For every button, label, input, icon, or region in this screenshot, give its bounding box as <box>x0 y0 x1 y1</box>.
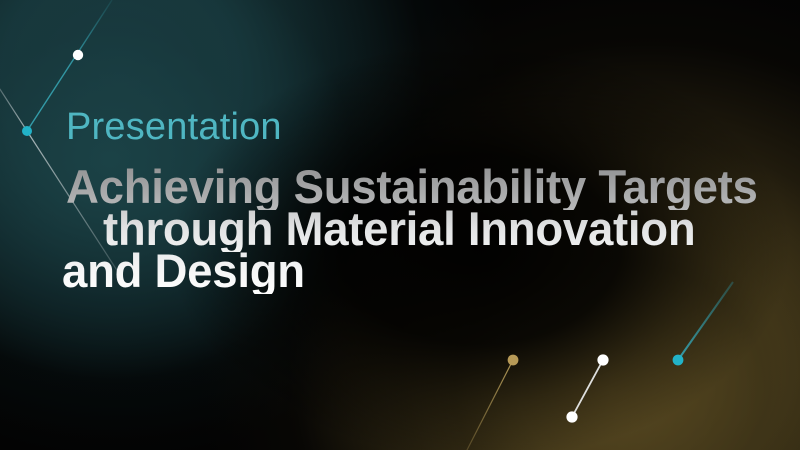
edge-white-diagonal-left <box>0 80 27 131</box>
node-white-bottom-lower <box>566 411 577 422</box>
node-teal-bottom <box>673 355 684 366</box>
edge-amber-diagonal <box>466 360 513 450</box>
node-amber-bottom <box>508 355 519 366</box>
title-line-3: and Design <box>62 247 305 294</box>
edge-white-diagonal-bottom <box>572 360 603 417</box>
node-white-bottom-upper <box>597 354 608 365</box>
slide-eyebrow-label: Presentation <box>66 106 282 149</box>
node-white-top-left <box>73 50 83 60</box>
node-teal-left <box>22 126 32 136</box>
slide-title: Achieving Sustainability Targets through… <box>0 163 800 313</box>
presentation-title-slide: Presentation Achieving Sustainability Ta… <box>0 0 800 450</box>
